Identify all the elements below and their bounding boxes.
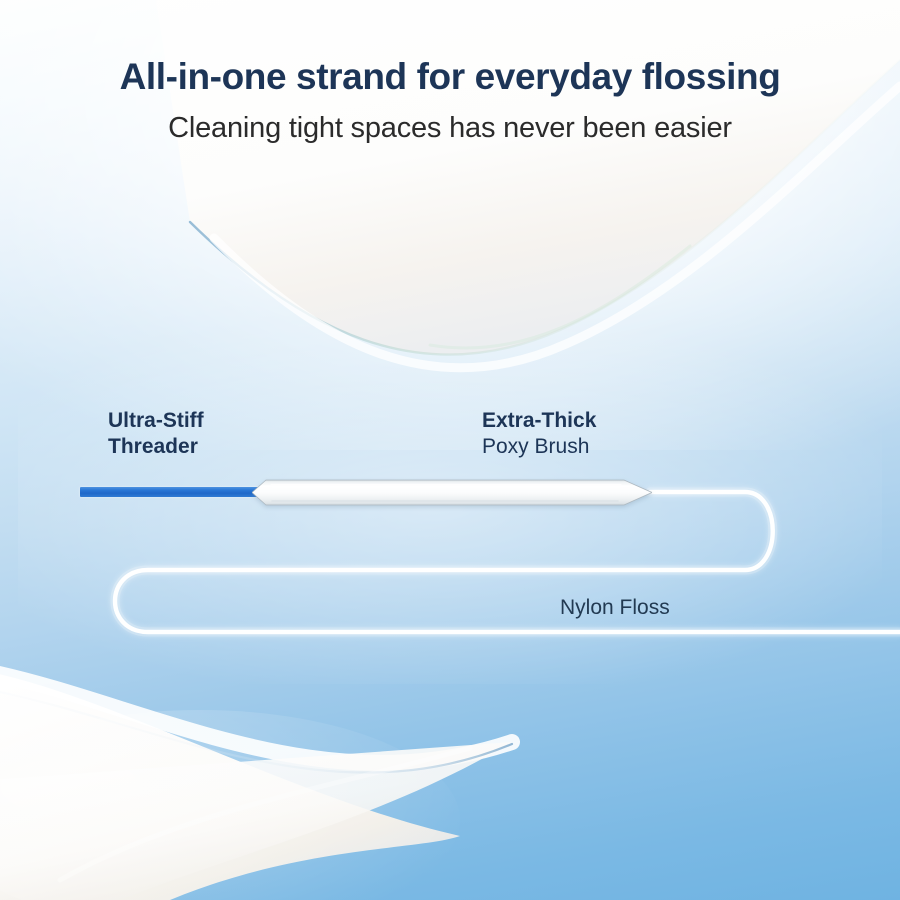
callout-brush-line2: Poxy Brush — [482, 434, 596, 460]
callout-extra-thick-poxy-brush: Extra-Thick Poxy Brush — [482, 408, 596, 460]
page-title: All-in-one strand for everyday flossing — [0, 56, 900, 98]
ultra-stiff-threader-bar — [80, 487, 258, 497]
callout-nylon-floss: Nylon Floss — [560, 595, 670, 621]
callout-ultra-stiff-threader: Ultra-Stiff Threader — [108, 408, 204, 460]
page-subtitle: Cleaning tight spaces has never been eas… — [0, 112, 900, 145]
callout-brush-line1: Extra-Thick — [482, 408, 596, 434]
product-infographic: All-in-one strand for everyday flossing … — [0, 0, 900, 900]
poxy-brush-body — [252, 478, 652, 507]
callout-threader-line2: Threader — [108, 434, 204, 460]
callout-threader-line1: Ultra-Stiff — [108, 408, 204, 434]
